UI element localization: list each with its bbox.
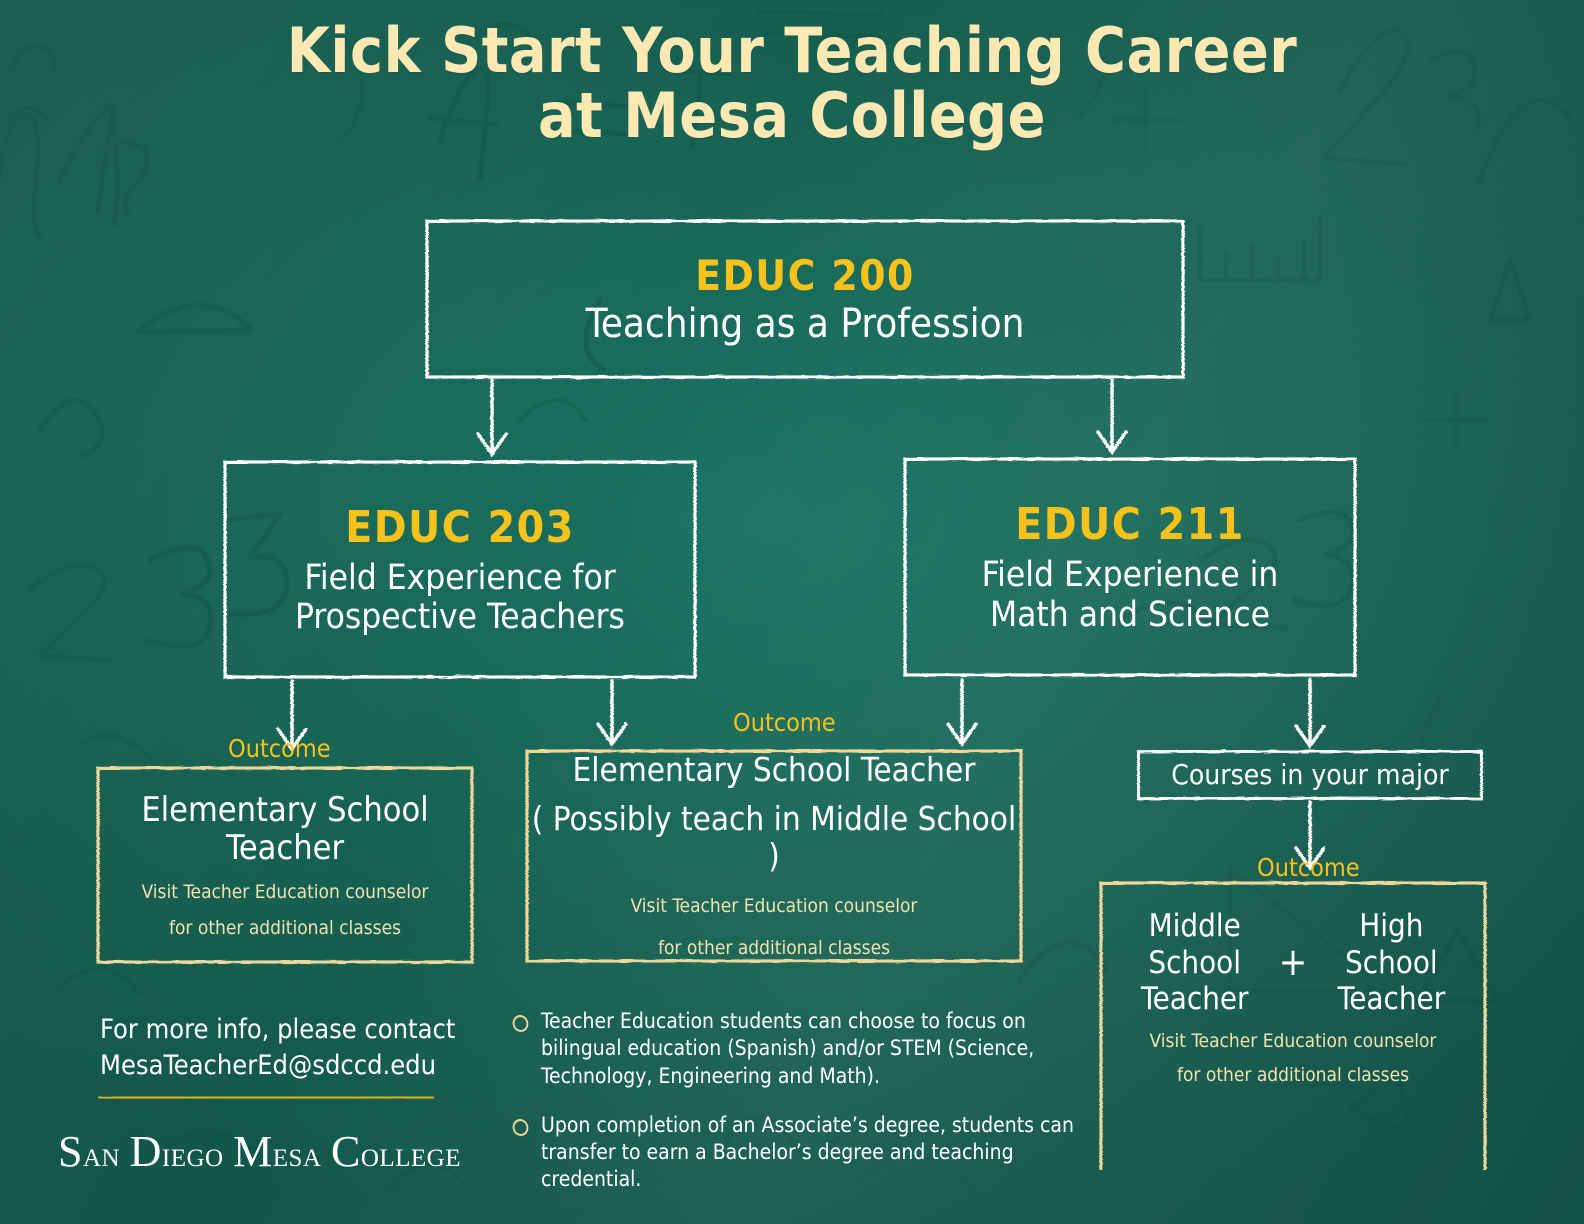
role-line-3: Teacher bbox=[1321, 981, 1461, 1018]
outcome-box-elementary-middle-teacher[interactable]: Elementary School Teacher ( Possibly tea… bbox=[524, 748, 1024, 964]
course-box-educ-200[interactable]: EDUC 200 Teaching as a Profession bbox=[424, 218, 1186, 380]
outcome-title-line-1: Elementary School bbox=[141, 791, 428, 829]
role-line-2: School bbox=[1321, 945, 1461, 982]
list-item: Upon completion of an Associate’s degree… bbox=[512, 1112, 1092, 1194]
outcome-title-line-2: ( Possibly teach in Middle School ) bbox=[524, 801, 1024, 875]
outcome-note-line-2: for other additional classes bbox=[1177, 1064, 1409, 1086]
outcome-dual-roles: Middle School Teacher + High School Teac… bbox=[1125, 908, 1462, 1018]
course-code: EDUC 211 bbox=[1015, 499, 1245, 550]
outcome-note-line-1: Visit Teacher Education counselor bbox=[1150, 1030, 1437, 1052]
contact-info: For more info, please contact MesaTeache… bbox=[100, 1012, 520, 1085]
logo-word2-rest: iego bbox=[162, 1134, 224, 1174]
email-underline bbox=[98, 1095, 434, 1100]
role-line-1: High bbox=[1321, 908, 1461, 945]
course-box-educ-203[interactable]: EDUC 203 Field Experience for Prospectiv… bbox=[222, 459, 698, 680]
logo-word2-cap: D bbox=[130, 1127, 162, 1176]
logo-word1-rest: an bbox=[83, 1134, 120, 1174]
outcome-label-left: Outcome bbox=[228, 734, 331, 763]
course-name-line-1: Field Experience for bbox=[304, 559, 615, 598]
logo-word4-rest: ollege bbox=[361, 1134, 461, 1174]
san-diego-mesa-college-logo: San Diego Mesa College bbox=[58, 1126, 461, 1177]
outcome-note-line-1: Visit Teacher Education counselor bbox=[142, 881, 429, 903]
title-line-1: Kick Start Your Teaching Career bbox=[287, 14, 1298, 87]
course-name-line-1: Field Experience in bbox=[982, 556, 1279, 595]
outcome-label-middle: Outcome bbox=[733, 708, 836, 737]
outcome-role-middle-school: Middle School Teacher bbox=[1125, 908, 1265, 1018]
outcome-title-line-1: Elementary School Teacher bbox=[573, 752, 976, 789]
logo-word3-cap: M bbox=[233, 1127, 273, 1176]
notes-list: Teacher Education students can choose to… bbox=[512, 1008, 1092, 1216]
outcome-role-high-school: High School Teacher bbox=[1321, 908, 1461, 1018]
outcome-box-elementary-teacher[interactable]: Elementary School Teacher Visit Teacher … bbox=[95, 765, 475, 965]
note-text: Teacher Education students can choose to… bbox=[541, 1008, 1092, 1090]
logo-word3-rest: esa bbox=[273, 1134, 322, 1174]
page-title: Kick Start Your Teaching Career at Mesa … bbox=[0, 18, 1584, 148]
role-line-1: Middle bbox=[1125, 908, 1265, 945]
circle-bullet-icon bbox=[510, 1013, 530, 1034]
contact-prompt: For more info, please contact bbox=[100, 1012, 520, 1048]
role-line-2: School bbox=[1125, 945, 1265, 982]
courses-in-major-label: Courses in your major bbox=[1171, 759, 1448, 790]
course-name-line-2: Math and Science bbox=[990, 596, 1270, 635]
list-item: Teacher Education students can choose to… bbox=[512, 1008, 1092, 1090]
course-code: EDUC 203 bbox=[345, 502, 575, 553]
outcome-title-line-2: Teacher bbox=[226, 829, 344, 867]
outcome-box-middle-high-teacher[interactable]: Middle School Teacher + High School Teac… bbox=[1098, 880, 1488, 1170]
logo-word4-cap: C bbox=[331, 1127, 361, 1176]
course-box-educ-211[interactable]: EDUC 211 Field Experience in Math and Sc… bbox=[902, 456, 1358, 678]
chalkboard-background: Kick Start Your Teaching Career at Mesa … bbox=[0, 0, 1584, 1224]
note-text: Upon completion of an Associate’s degree… bbox=[541, 1112, 1092, 1194]
outcome-note-line-2: for other additional classes bbox=[169, 917, 401, 939]
courses-in-major-box[interactable]: Courses in your major bbox=[1136, 749, 1484, 801]
outcome-label-right: Outcome bbox=[1257, 853, 1360, 882]
role-line-3: Teacher bbox=[1125, 981, 1265, 1018]
outcome-note-line-2: for other additional classes bbox=[658, 937, 890, 959]
course-code: EDUC 200 bbox=[695, 251, 915, 300]
title-line-2: at Mesa College bbox=[0, 83, 1584, 148]
outcome-note-line-1: Visit Teacher Education counselor bbox=[631, 895, 918, 917]
contact-email[interactable]: MesaTeacherEd@sdccd.edu bbox=[100, 1048, 436, 1084]
plus-symbol: + bbox=[1279, 940, 1308, 985]
course-name: Teaching as a Profession bbox=[586, 302, 1025, 347]
circle-bullet-icon bbox=[510, 1117, 530, 1138]
course-name-line-2: Prospective Teachers bbox=[295, 598, 625, 637]
logo-word1-cap: S bbox=[58, 1127, 83, 1176]
